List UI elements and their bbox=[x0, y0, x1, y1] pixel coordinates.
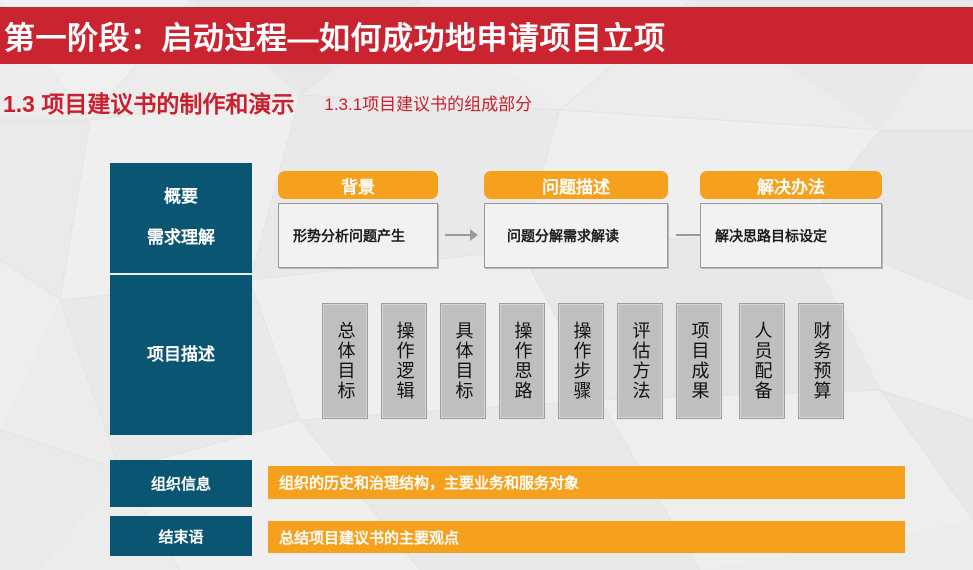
sidebar-item-project-description[interactable]: 项目描述 bbox=[110, 275, 252, 435]
vertical-item-2-label: 具体目标 bbox=[454, 321, 473, 401]
sidebar-project-description-label: 项目描述 bbox=[147, 346, 215, 365]
list-item[interactable]: 操作逻辑 bbox=[382, 304, 426, 418]
subtitle-row: 1.3 项目建议书的制作和演示 1.3.1项目建议书的组成部分 bbox=[0, 83, 973, 121]
list-item[interactable]: 总体目标 bbox=[323, 304, 367, 418]
page-title: 第一阶段：启动过程—如何成功地申请项目立项 bbox=[0, 13, 666, 58]
vertical-item-4-label: 操作步骤 bbox=[572, 321, 591, 401]
list-item[interactable]: 操作步骤 bbox=[559, 304, 603, 418]
flow-stage-0-body[interactable]: 形势分析问题产生 bbox=[278, 203, 438, 268]
list-item[interactable]: 财务预算 bbox=[799, 304, 843, 418]
list-item[interactable]: 评估方法 bbox=[618, 304, 662, 418]
sidebar-org-info-label: 组织信息 bbox=[151, 473, 211, 494]
flow-stage-2-head-label: 解决办法 bbox=[757, 173, 825, 198]
flow-stage-header-solution[interactable]: 解决办法 bbox=[700, 171, 882, 199]
list-item[interactable]: 项目成果 bbox=[677, 304, 721, 418]
sidebar-item-conclusion[interactable]: 结束语 bbox=[110, 516, 252, 556]
flow-stage-1-head-label: 问题描述 bbox=[542, 173, 610, 198]
sidebar-conclusion-label: 结束语 bbox=[158, 526, 203, 547]
slide-title-bar: 第一阶段：启动过程—如何成功地申请项目立项 bbox=[0, 7, 973, 64]
bottom-bar-org-info[interactable]: 组织的历史和治理结构，主要业务和服务对象 bbox=[268, 466, 905, 499]
flow-stage-header-problem[interactable]: 问题描述 bbox=[484, 171, 668, 199]
sidebar-item-overview[interactable]: 概要 需求理解 bbox=[110, 163, 252, 273]
flow-stage-2-body-label: 解决思路目标设定 bbox=[715, 226, 827, 246]
bottom-bar-0-text: 组织的历史和治理结构，主要业务和服务对象 bbox=[279, 472, 579, 493]
flow-stage-0-body-label: 形势分析问题产生 bbox=[293, 226, 405, 246]
vertical-item-1-label: 操作逻辑 bbox=[395, 321, 414, 401]
bottom-bar-conclusion[interactable]: 总结项目建议书的主要观点 bbox=[268, 521, 905, 553]
sidebar-overview-line1: 概要 bbox=[164, 188, 198, 207]
list-item[interactable]: 人员配备 bbox=[740, 304, 784, 418]
vertical-item-6-label: 项目成果 bbox=[690, 321, 709, 401]
vertical-item-3-label: 操作思路 bbox=[513, 321, 532, 401]
flow-stage-1-body[interactable]: 问题分解需求解读 bbox=[484, 203, 668, 268]
flow-stage-header-background[interactable]: 背景 bbox=[278, 171, 438, 199]
vertical-item-7-label: 人员配备 bbox=[753, 321, 772, 401]
sidebar-overview-line2: 需求理解 bbox=[147, 229, 215, 248]
flow-stage-1-body-label: 问题分解需求解读 bbox=[507, 226, 619, 246]
vertical-item-5-label: 评估方法 bbox=[631, 321, 650, 401]
flow-arrow-icon-1 bbox=[443, 222, 479, 248]
bottom-bar-1-text: 总结项目建议书的主要观点 bbox=[279, 527, 459, 548]
section-heading: 1.3 项目建议书的制作和演示 bbox=[0, 85, 294, 119]
vertical-item-8-label: 财务预算 bbox=[812, 321, 831, 401]
sidebar-item-org-info[interactable]: 组织信息 bbox=[110, 460, 252, 507]
vertical-item-0-label: 总体目标 bbox=[336, 321, 355, 401]
flow-stage-2-body[interactable]: 解决思路目标设定 bbox=[700, 203, 882, 268]
list-item[interactable]: 操作思路 bbox=[500, 304, 544, 418]
list-item[interactable]: 具体目标 bbox=[441, 304, 485, 418]
subsection-heading: 1.3.1项目建议书的组成部分 bbox=[324, 90, 532, 115]
flow-stage-0-head-label: 背景 bbox=[341, 173, 375, 198]
